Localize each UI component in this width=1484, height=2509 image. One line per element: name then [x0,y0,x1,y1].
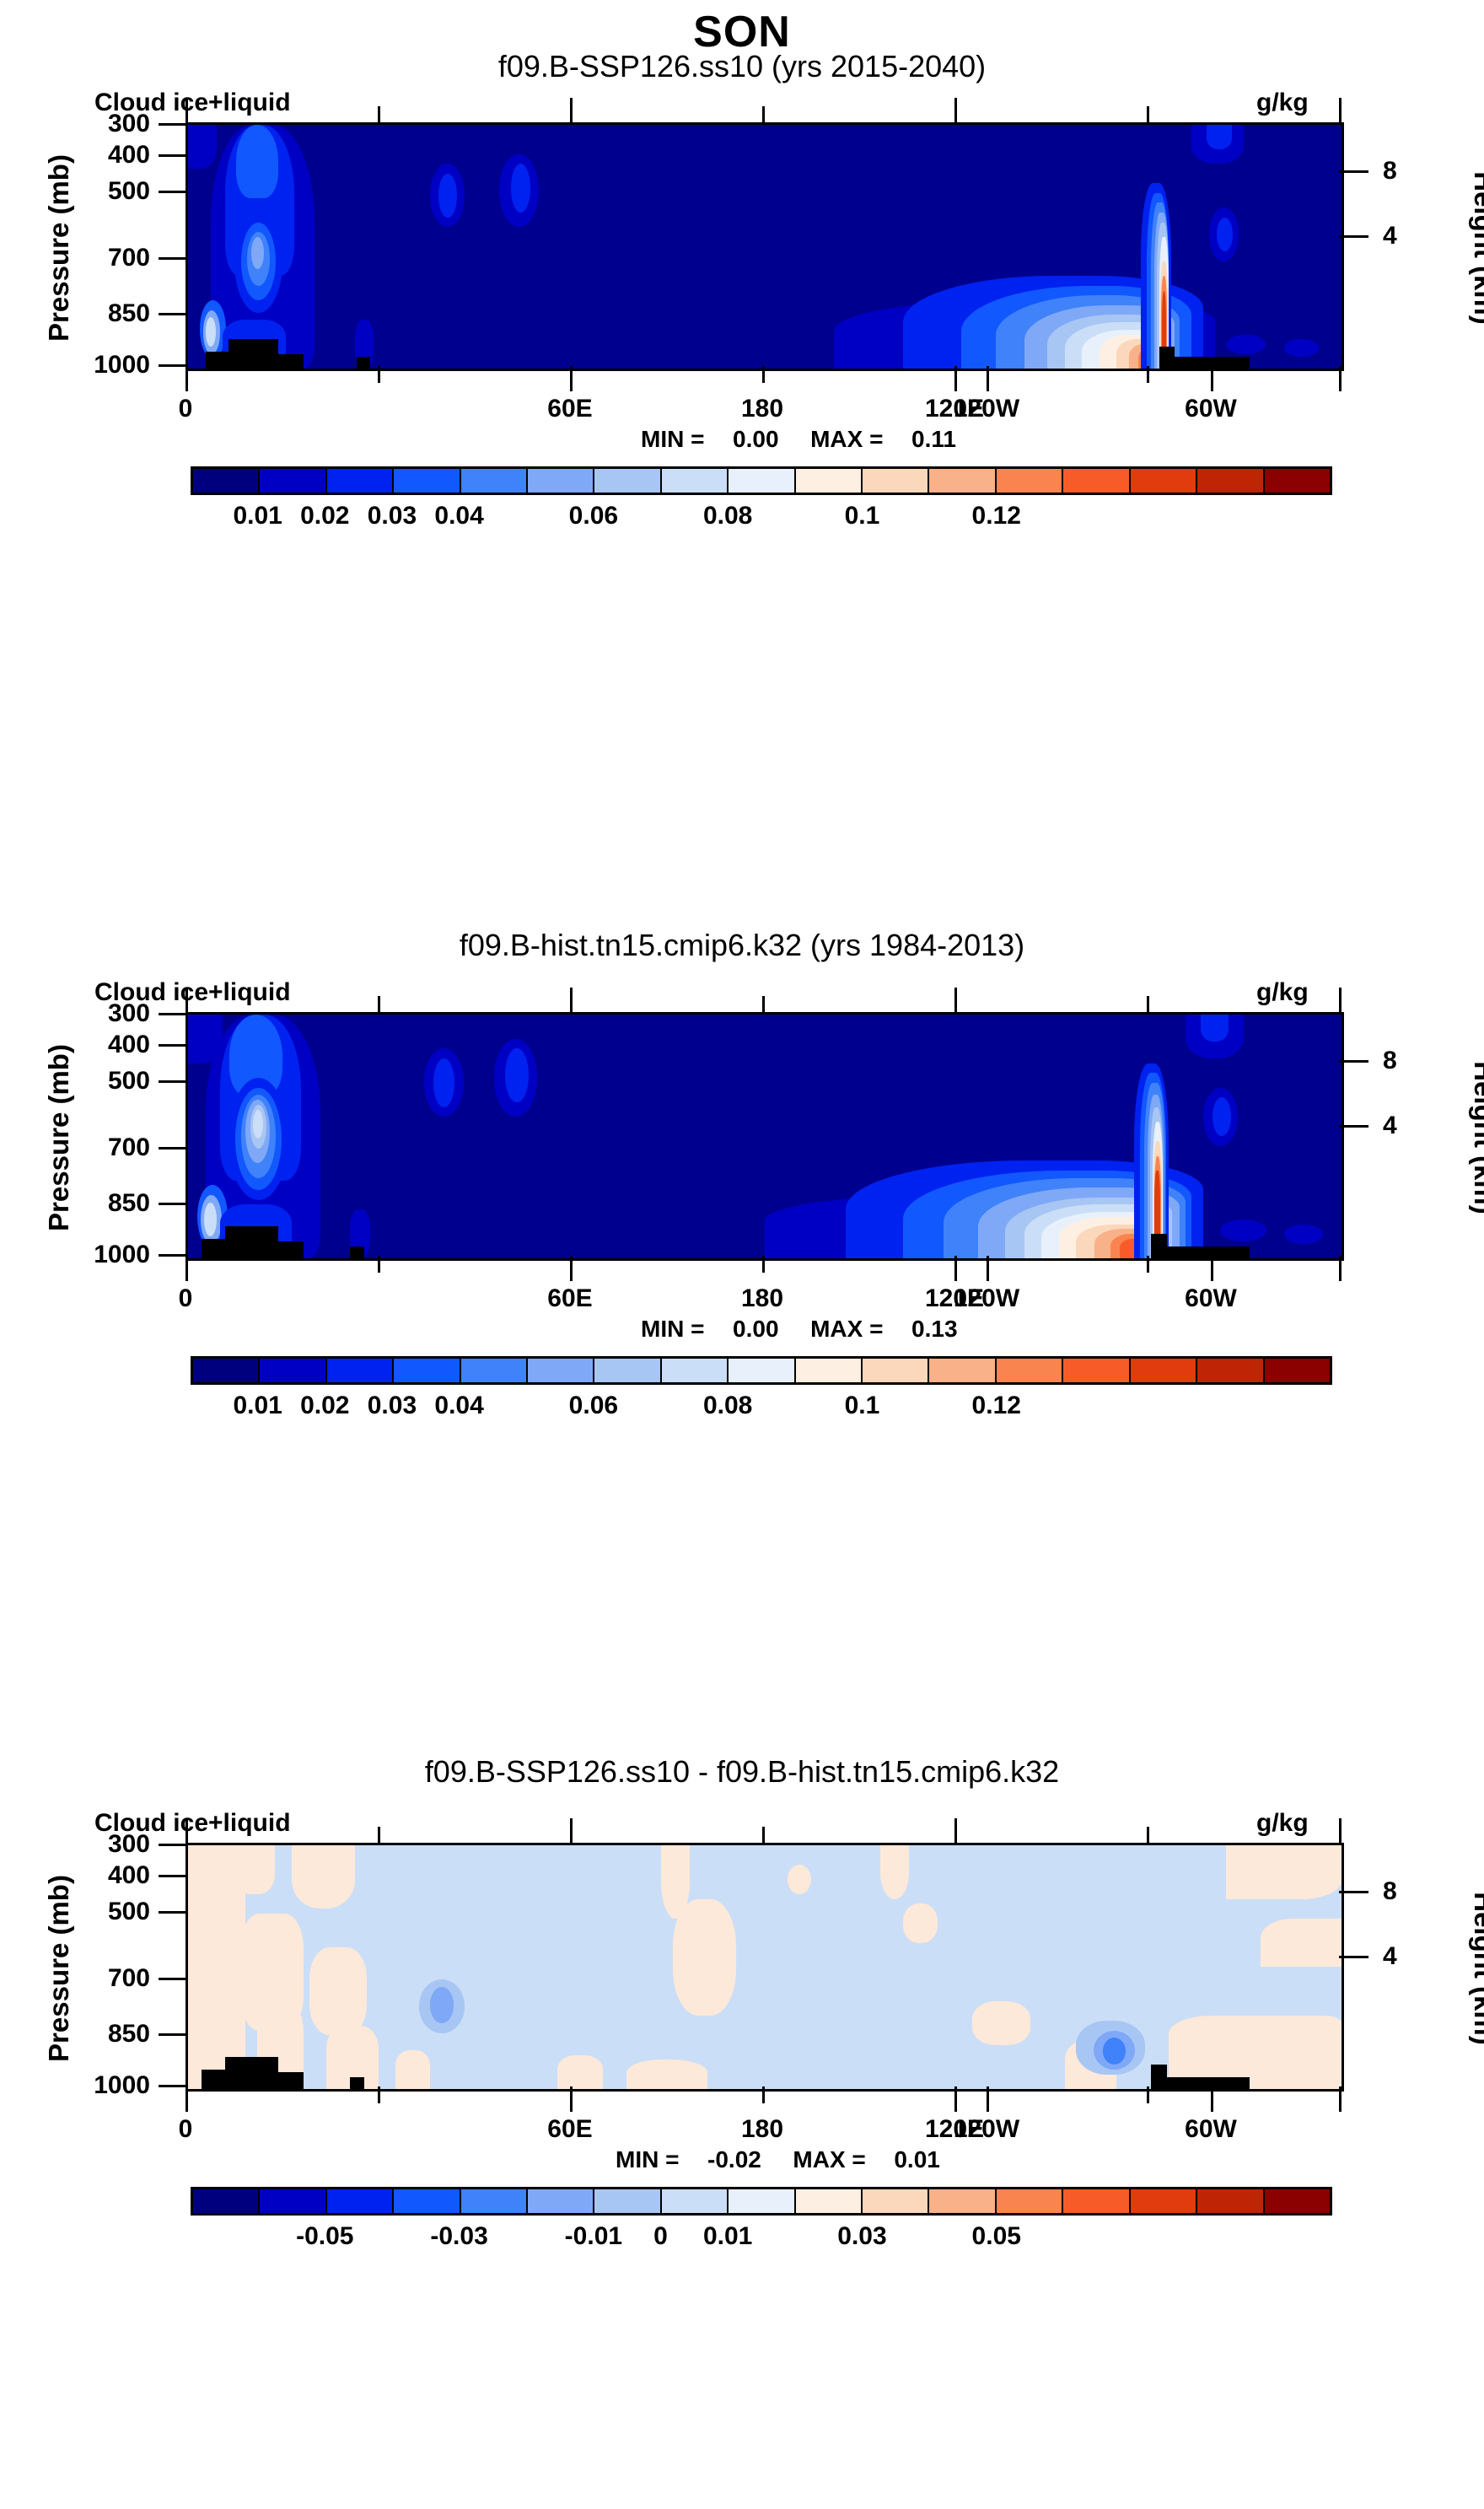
x-tick-label: 60E [547,2115,592,2144]
topography-mask [350,2077,365,2089]
colorbar-cell [594,469,661,493]
x-tick [378,1256,380,1273]
y2-tick-label: 8 [1383,157,1459,186]
colorbar-tick-label: 0.1 [845,1392,880,1420]
y-tick [159,1013,188,1015]
colorbar-cell [193,2189,260,2213]
y-tick-label: 700 [51,244,150,272]
y-tick-label: 500 [51,177,150,206]
contour-blob [1103,2038,1126,2065]
topography-mask [350,1246,365,1258]
contour-blob [309,1947,367,2035]
x-tick [762,996,765,1013]
panel-top-minmax: MIN = 0.00 MAX = 0.11 [641,426,956,453]
x-tick-label: 180 [741,1284,783,1313]
y-tick [159,154,188,157]
x-tick-label: 0 [179,2115,193,2144]
panel-top-colorbar[interactable] [191,466,1332,495]
x-tick-label: 60W [1185,1284,1237,1313]
contour-blob [206,317,216,347]
x-tick [570,1818,573,1844]
topography-mask [1157,2077,1249,2089]
colorbar-tick-label: 0.02 [300,1392,349,1420]
x-tick-label: 0 [179,1284,193,1313]
min-prefix: MIN = [616,2146,679,2172]
colorbar-cell [1197,1359,1264,1382]
y-tick-label: 1000 [51,2071,150,2100]
y2-tick-label: 8 [1383,1047,1459,1075]
x-tick [954,2086,957,2112]
colorbar-cell [1063,1359,1130,1382]
max-value: 0.01 [894,2146,940,2172]
panel-middle-field [188,1015,1342,1258]
x-tick [570,1256,573,1281]
panel-diff-minmax: MIN = -0.02 MAX = 0.01 [616,2146,940,2173]
y-tick [159,2033,188,2036]
colorbar-cell [1265,469,1330,493]
colorbar-cell [260,469,326,493]
contour-blob [1201,1015,1229,1042]
colorbar-cell [1197,469,1264,493]
colorbar-cell [796,1359,863,1382]
colorbar-cell [1265,1359,1330,1382]
colorbar-tick-label: 0.06 [569,502,618,530]
colorbar-cell [1063,2189,1130,2213]
colorbar-cell [662,2189,729,2213]
topography-mask [229,339,278,369]
x-tick [762,1827,765,1844]
panel-diff-colorbar-labels: -0.05-0.03-0.0100.010.030.05 [191,2222,1332,2256]
colorbar-tick-label: 0.12 [972,1392,1021,1420]
x-tick [762,1256,765,1273]
colorbar-cell [327,1359,394,1382]
panel-diff-colorbar[interactable] [191,2187,1332,2216]
contour-blob [1212,1097,1231,1136]
contour-blob [188,125,217,169]
colorbar-cell [260,2189,326,2213]
topography-mask [273,1241,304,1258]
y-tick [159,1203,188,1205]
colorbar-cell [327,2189,394,2213]
x-tick [1147,2086,1149,2103]
colorbar-tick-label: -0.05 [296,2222,353,2251]
x-tick-label: 120W [954,1284,1019,1313]
topography-mask [276,354,304,369]
panel-top-y2-axis-title: Height (km) [1468,121,1484,374]
contour-blob [251,237,264,269]
panel-top-title: f09.B-SSP126.ss10 (yrs 2015-2040) [0,49,1484,84]
colorbar-cell [997,469,1063,493]
panel-middle-plot-area [185,1012,1344,1261]
colorbar-tick-label: 0.08 [703,1392,752,1420]
y-tick-label: 500 [51,1067,150,1096]
colorbar-cell [193,469,260,493]
colorbar-cell [594,2189,661,2213]
contour-blob [1207,125,1232,149]
panel-diff-field [188,1845,1342,2089]
panel-diff-plot-area [185,1843,1344,2092]
x-tick [378,1827,380,1844]
contour-blob [395,2050,430,2089]
x-tick [1147,1256,1149,1273]
y-tick [159,2085,188,2087]
x-tick [185,988,188,1013]
panel-middle-colorbar[interactable] [191,1356,1332,1385]
max-prefix: MAX = [793,2146,865,2172]
x-tick [1339,98,1342,123]
colorbar-tick-label: 0.12 [972,502,1021,530]
y2-tick [1339,1956,1368,1958]
x-tick [1147,106,1149,123]
y-tick [159,1147,188,1150]
x-tick [954,98,957,123]
x-tick [1147,1827,1149,1844]
colorbar-cell [394,1359,460,1382]
panel-diff-units-label: g/kg [1256,1809,1309,1838]
colorbar-tick-label: 0.05 [972,2222,1021,2251]
colorbar-cell [327,469,394,493]
colorbar-cell [461,469,528,493]
colorbar-cell [863,469,929,493]
topography-mask [273,2072,304,2089]
colorbar-cell [863,1359,929,1382]
x-tick [378,996,380,1013]
x-tick [1339,988,1342,1013]
colorbar-tick-label: 0.04 [434,502,483,530]
topography-mask [1166,357,1249,369]
y2-tick [1339,1060,1368,1063]
colorbar-tick-label: 0.06 [569,1392,618,1420]
colorbar-cell [528,2189,594,2213]
contour-blob [1220,1220,1266,1241]
y-tick [159,313,188,315]
y-tick [159,1844,188,1846]
colorbar-cell [260,1359,326,1382]
colorbar-cell [528,469,594,493]
contour-blob [1284,339,1319,356]
panel-middle-colorbar-labels: 0.010.020.030.040.060.080.10.12 [191,1392,1332,1425]
topography-mask [225,1226,278,1258]
panel-top-plot-area [185,122,1344,371]
colorbar-cell [929,469,996,493]
y-tick-label: 1000 [51,351,150,380]
y2-tick-label: 4 [1383,1942,1459,1971]
y-tick-label: 700 [51,1133,150,1162]
contour-blob [788,1865,810,1894]
y-tick [159,1254,188,1257]
min-value: 0.00 [733,1316,779,1342]
colorbar-tick-label: -0.01 [565,2222,622,2251]
colorbar-tick-label: 0.01 [233,1392,282,1420]
colorbar-cell [863,2189,929,2213]
panel-top-colorbar-labels: 0.010.020.030.040.060.080.10.12 [191,502,1332,536]
colorbar-tick-label: 0.1 [845,502,880,530]
x-tick [185,98,188,123]
x-tick [954,988,957,1013]
colorbar-cell [1265,2189,1330,2213]
panel-middle-units-label: g/kg [1256,978,1309,1007]
x-tick [378,106,380,123]
x-tick [987,366,989,391]
colorbar-tick-label: 0.01 [703,2222,752,2251]
x-tick-label: 0 [179,395,193,423]
y-tick [159,364,188,367]
contour-blob [880,1845,909,1899]
colorbar-cell [729,469,795,493]
contour-blob [505,1048,528,1102]
colorbar-cell [461,2189,528,2213]
y-tick [159,257,188,260]
colorbar-cell [1131,2189,1197,2213]
panel-middle-y2-axis-title: Height (km) [1468,1011,1484,1264]
y-tick-label: 300 [51,1830,150,1859]
x-tick [570,2086,573,2112]
colorbar-tick-label: 0.08 [703,502,752,530]
panel-top-units-label: g/kg [1256,89,1309,117]
contour-blob [673,1899,736,2016]
y-tick [159,123,188,126]
x-tick-label: 60E [547,1284,592,1313]
contour-blob [236,125,277,198]
x-tick [954,1256,957,1281]
colorbar-cell [662,469,729,493]
min-prefix: MIN = [641,1316,704,1342]
colorbar-cell [796,2189,863,2213]
colorbar-tick-label: 0 [653,2222,668,2251]
x-tick-label: 180 [741,395,783,423]
x-tick [1211,2086,1213,2112]
x-tick [1211,1256,1213,1281]
x-tick [378,2086,380,2103]
colorbar-cell [929,1359,996,1382]
colorbar-cell [1063,469,1130,493]
x-tick-label: 120W [954,395,1019,423]
x-tick [1339,2086,1342,2112]
colorbar-cell [729,2189,795,2213]
x-tick [1339,1818,1342,1844]
y2-tick-label: 4 [1383,1112,1459,1140]
x-tick [185,1256,188,1281]
y2-tick [1339,170,1368,173]
x-tick-label: 60E [547,395,592,423]
y-tick-label: 400 [51,141,150,170]
contour-blob [292,1845,355,1909]
colorbar-cell [662,1359,729,1382]
contour-blob [433,1058,454,1107]
x-tick-label: 120W [954,2115,1019,2144]
colorbar-tick-label: 0.03 [368,1392,417,1420]
colorbar-cell [193,1359,260,1382]
y-tick [159,1978,188,1980]
topography-mask [1157,1246,1249,1258]
x-tick [1339,1256,1342,1281]
colorbar-cell [461,1359,528,1382]
contour-blob [1261,1919,1342,1968]
colorbar-cell [394,2189,460,2213]
x-tick [1211,366,1213,391]
topography-mask [225,2057,278,2089]
contour-blob [626,2059,707,2089]
x-tick [762,2086,765,2103]
y-tick [159,1875,188,1877]
colorbar-tick-label: 0.04 [434,1392,483,1420]
colorbar-cell [594,1359,661,1382]
panel-middle-title: f09.B-hist.tn15.cmip6.k32 (yrs 1984-2013… [0,928,1484,963]
x-tick [954,366,957,391]
y-tick [159,1911,188,1914]
topography-mask [206,352,231,369]
colorbar-cell [1197,2189,1264,2213]
x-tick [185,366,188,391]
min-value: -0.02 [707,2146,761,2172]
x-tick [378,366,380,383]
y-tick-label: 400 [51,1861,150,1890]
max-prefix: MAX = [810,1316,883,1342]
contour-blob [188,1015,223,1063]
y2-tick [1339,235,1368,238]
max-prefix: MAX = [810,426,883,452]
colorbar-tick-label: 0.02 [300,502,349,530]
y-tick-label: 1000 [51,1241,150,1269]
colorbar-cell [796,469,863,493]
colorbar-tick-label: 0.01 [233,502,282,530]
x-tick [185,2086,188,2112]
contour-blob [234,1845,275,1894]
y2-tick [1339,1125,1368,1128]
x-tick-label: 180 [741,2115,783,2144]
y-tick-label: 850 [51,299,150,328]
x-tick [987,2086,989,2112]
colorbar-cell [997,1359,1063,1382]
max-value: 0.11 [911,426,956,452]
y2-tick-label: 8 [1383,1877,1459,1906]
contour-blob [438,174,457,218]
contour-blob [1284,1225,1324,1244]
y-tick-label: 850 [51,1189,150,1218]
colorbar-cell [729,1359,795,1382]
contour-blob [903,1903,938,1942]
panel-diff-y2-axis-title: Height (km) [1468,1842,1484,2095]
contour-blob [253,1110,263,1139]
y-tick-label: 300 [51,110,150,138]
colorbar-tick-label: 0.03 [837,2222,886,2251]
colorbar-cell [394,469,460,493]
y2-tick-label: 4 [1383,222,1459,250]
y-tick-label: 700 [51,1964,150,1993]
x-tick [570,988,573,1013]
x-tick [1147,366,1149,383]
colorbar-cell [929,2189,996,2213]
colorbar-tick-label: -0.03 [430,2222,487,2251]
panel-top-field [188,125,1342,369]
panel-diff-title: f09.B-SSP126.ss10 - f09.B-hist.tn15.cmip… [0,1754,1484,1790]
panel-middle-minmax: MIN = 0.00 MAX = 0.13 [641,1316,958,1343]
topography-mask [357,357,370,369]
min-value: 0.00 [733,426,779,452]
y2-tick [1339,1891,1368,1893]
x-tick [185,1818,188,1844]
x-tick-label: 60W [1185,2115,1237,2144]
y-tick [159,191,188,193]
x-tick [987,1256,989,1281]
colorbar-cell [528,1359,594,1382]
y-tick-label: 500 [51,1898,150,1926]
x-tick [570,366,573,391]
contour-blob [557,2055,604,2089]
colorbar-cell [1131,469,1197,493]
colorbar-cell [997,2189,1063,2213]
x-tick [1147,996,1149,1013]
y-tick-label: 400 [51,1031,150,1059]
x-tick-label: 60W [1185,395,1237,423]
contour-blob [1226,335,1266,354]
x-tick [762,366,765,383]
x-tick [1339,366,1342,391]
min-prefix: MIN = [641,426,704,452]
max-value: 0.13 [911,1316,958,1342]
y-tick-label: 850 [51,2020,150,2049]
contour-blob [430,1987,453,2023]
colorbar-tick-label: 0.03 [368,502,417,530]
x-tick [762,106,765,123]
x-tick [954,1818,957,1844]
y-tick [159,1080,188,1083]
x-tick [570,98,573,123]
contour-blob [1226,1845,1342,1899]
y-tick [159,1044,188,1047]
contour-blob [972,2001,1030,2045]
y-tick-label: 300 [51,999,150,1028]
colorbar-cell [1131,1359,1197,1382]
